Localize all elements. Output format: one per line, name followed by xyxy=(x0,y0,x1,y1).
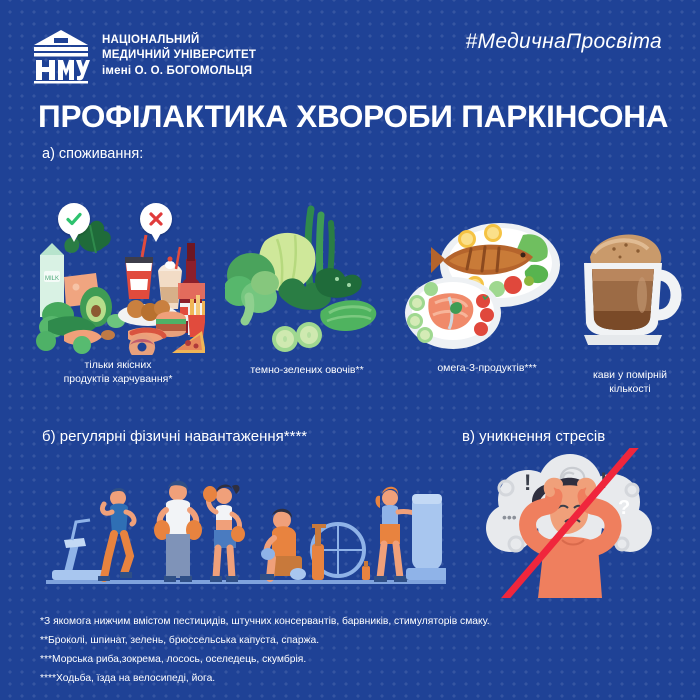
caption-line-2: продуктів харчування* xyxy=(64,373,173,385)
footnote-4: ****Ходьба, їзда на велосипеді, йога. xyxy=(40,669,660,688)
coffee-cup-icon xyxy=(570,223,690,348)
page-title: ПРОФІЛАКТИКА ХВОРОБИ ПАРКІНСОНА xyxy=(38,98,680,135)
food-caption-coffee: кави у помірній кількості xyxy=(545,368,700,396)
caption-line-2: кількості xyxy=(609,383,650,395)
brand-logo: НАЦІОНАЛЬНИЙ МЕДИЧНИЙ УНІВЕРСИТЕТ імені … xyxy=(30,28,256,84)
stressed-person-crossed-out-icon: ! ? ? ! ••• ••• xyxy=(466,448,681,598)
brand-line-1: НАЦІОНАЛЬНИЙ xyxy=(102,33,256,49)
section-a-label: а) споживання: xyxy=(42,146,143,162)
check-badge xyxy=(58,203,90,235)
brand-line-3: імені О. О. БОГОМОЛЬЦЯ xyxy=(102,64,256,80)
brand-name: НАЦІОНАЛЬНИЙ МЕДИЧНИЙ УНІВЕРСИТЕТ імені … xyxy=(102,33,256,80)
green-vegetables-icon xyxy=(225,205,385,355)
footnote-1: *З якомога нижчим вмістом пестицидів, шт… xyxy=(40,612,660,631)
section-c-label: в) уникнення стресів xyxy=(462,428,605,445)
food-item-greens: темно-зелених овочів** xyxy=(225,205,385,355)
infographic-page: НАЦІОНАЛЬНИЙ МЕДИЧНИЙ УНІВЕРСИТЕТ імені … xyxy=(0,0,700,700)
svg-text:•••: ••• xyxy=(502,509,517,525)
fish-plates-icon xyxy=(405,203,565,353)
good-vs-junk-food-icon: MILK xyxy=(30,195,205,355)
caption-line-1: кави у помірній xyxy=(593,369,667,381)
svg-text:!: ! xyxy=(524,470,531,495)
caption-line-1: тільки якісних xyxy=(85,359,152,371)
check-icon xyxy=(65,210,83,228)
x-icon xyxy=(147,210,165,228)
food-caption-quality: тільки якісних продуктів харчування* xyxy=(33,358,203,386)
food-item-omega3: омега-3-продуктів*** xyxy=(405,203,565,353)
food-item-quality: MILK xyxy=(30,195,205,355)
svg-text:MILK: MILK xyxy=(45,276,59,282)
svg-text:?: ? xyxy=(618,497,630,519)
gym-workout-scene-icon xyxy=(46,462,446,597)
footnote-2: **Броколі, шпинат, зелень, брюссельська … xyxy=(40,631,660,650)
campaign-hashtag: #МедичнаПросвіта xyxy=(466,30,662,54)
food-item-coffee: кави у помірній кількості xyxy=(570,223,690,348)
food-recommendations-row: MILK xyxy=(0,195,700,405)
section-b-label: б) регулярні фізичні навантаження**** xyxy=(42,428,307,445)
brand-line-2: МЕДИЧНИЙ УНІВЕРСИТЕТ xyxy=(102,48,256,64)
cross-badge xyxy=(140,203,172,235)
footnote-3: ***Морська риба,зокрема, лосось, оселеде… xyxy=(40,650,660,669)
nmu-building-logo-icon xyxy=(30,28,92,84)
footnotes: *З якомога нижчим вмістом пестицидів, шт… xyxy=(40,612,660,688)
food-caption-greens: темно-зелених овочів** xyxy=(222,363,392,377)
